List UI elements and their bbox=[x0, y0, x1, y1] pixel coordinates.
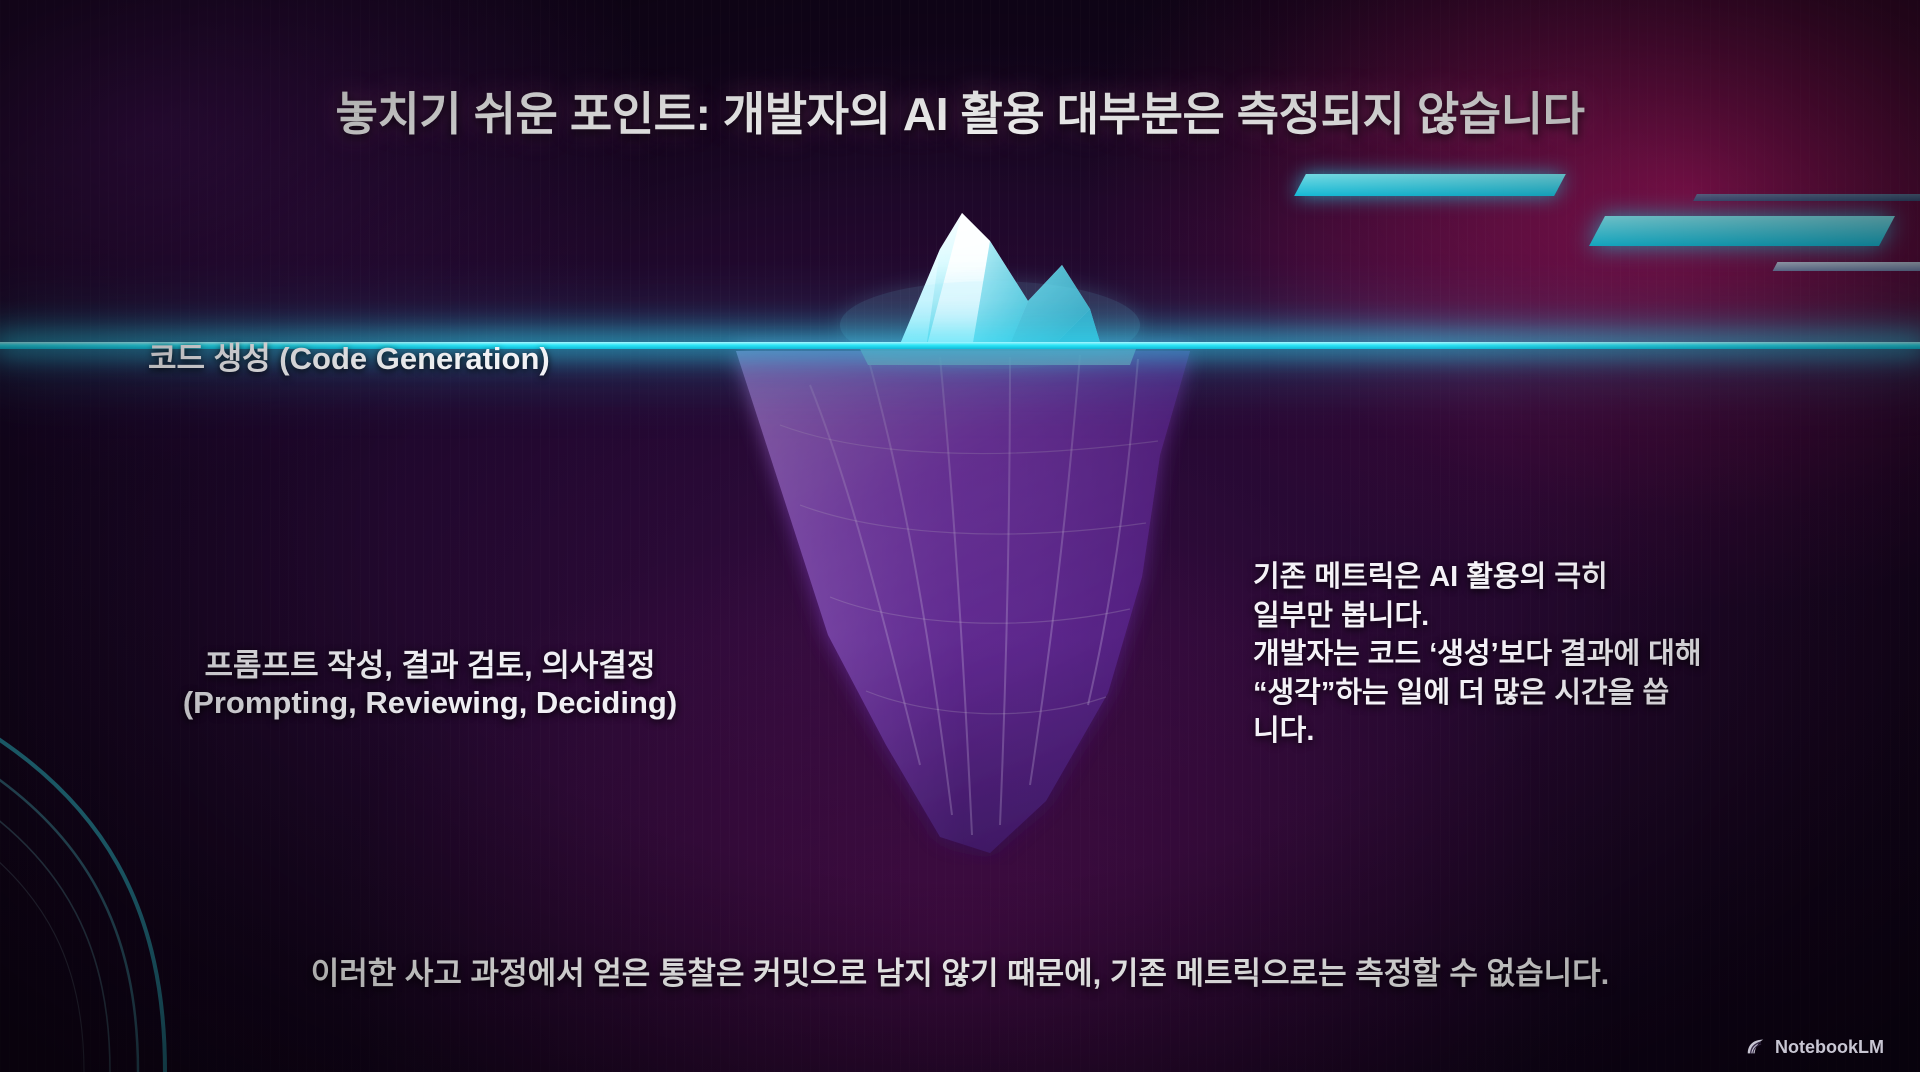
above-water-label: 코드 생성 (Code Generation) bbox=[148, 333, 550, 378]
notebooklm-icon bbox=[1745, 1036, 1767, 1058]
watermark: NotebookLM bbox=[1745, 1036, 1884, 1058]
side-note-line1: 기존 메트릭은 AI 활용의 극히 bbox=[1253, 558, 1893, 597]
chevron-accent-icon bbox=[1773, 262, 1920, 271]
chevron-accent-icon bbox=[1294, 174, 1566, 196]
iceberg-illustration bbox=[690, 205, 1230, 865]
side-note-line5: 니다. bbox=[1253, 712, 1893, 751]
page-title: 놓치기 쉬운 포인트: 개발자의 AI 활용 대부분은 측정되지 않습니다 bbox=[0, 78, 1920, 144]
side-note-line2: 일부만 봅니다. bbox=[1253, 597, 1893, 636]
slide-canvas: 놓치기 쉬운 포인트: 개발자의 AI 활용 대부분은 측정되지 않습니다 코드… bbox=[0, 0, 1920, 1072]
below-water-label-line1: 프롬프트 작성, 결과 검토, 의사결정 bbox=[70, 648, 790, 685]
side-note: 기존 메트릭은 AI 활용의 극히 일부만 봅니다. 개발자는 코드 ‘생성’보… bbox=[1253, 558, 1893, 751]
side-note-line4: “생각”하는 일에 더 많은 시간을 씁 bbox=[1253, 674, 1893, 713]
watermark-label: NotebookLM bbox=[1775, 1037, 1884, 1058]
bottom-caption: 이러한 사고 과정에서 얻은 통찰은 커밋으로 남지 않기 때문에, 기존 메트… bbox=[0, 948, 1920, 993]
below-water-label: 프롬프트 작성, 결과 검토, 의사결정 (Prompting, Reviewi… bbox=[70, 648, 790, 721]
swoosh-decoration-icon bbox=[0, 700, 480, 1072]
chevron-accent-icon bbox=[1589, 216, 1895, 246]
below-water-label-line2: (Prompting, Reviewing, Deciding) bbox=[70, 685, 790, 722]
side-note-line3: 개발자는 코드 ‘생성’보다 결과에 대해 bbox=[1253, 635, 1893, 674]
chevron-accent-icon bbox=[1693, 194, 1920, 201]
